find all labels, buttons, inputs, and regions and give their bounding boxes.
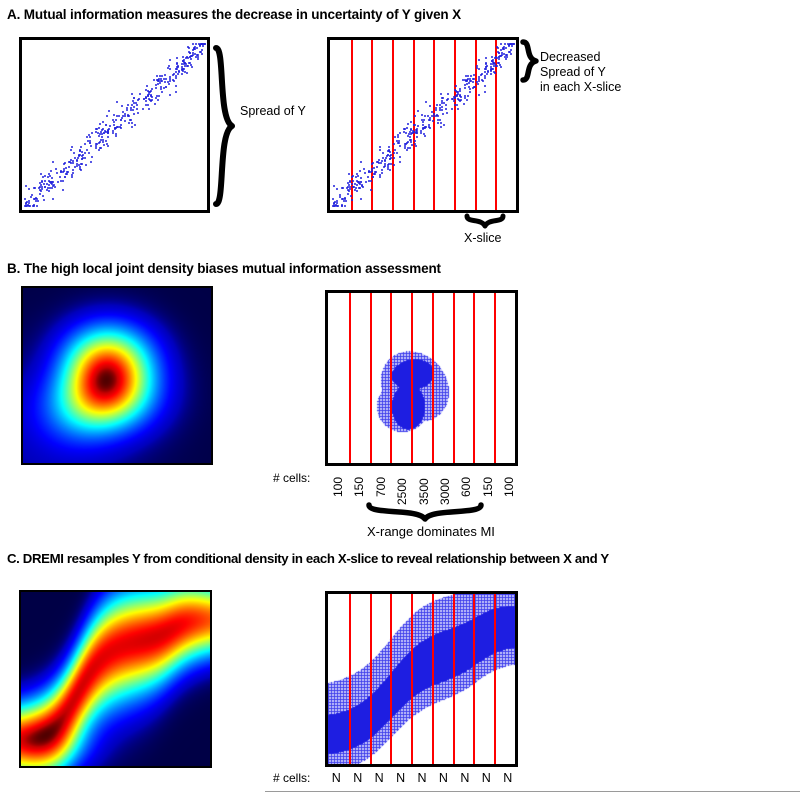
- cells-value: N: [482, 771, 491, 785]
- x-slice-brace: [465, 214, 505, 230]
- x-slice-dividers-b: [328, 293, 515, 463]
- x-range-dominates-label: X-range dominates MI: [367, 524, 495, 539]
- x-range-dominates-brace: [366, 503, 484, 523]
- cells-value: N: [353, 771, 362, 785]
- cells-value: 2500: [395, 478, 409, 505]
- x-slice-dividers-c: [328, 594, 515, 764]
- spread-of-y-brace: [212, 46, 238, 206]
- cells-label-b: # cells:: [273, 471, 310, 485]
- panel-b-title: B. The high local joint density biases m…: [7, 261, 441, 276]
- cells-value: N: [439, 771, 448, 785]
- cells-value: 100: [331, 477, 345, 497]
- panel-c-right-plot: [325, 591, 518, 767]
- panel-a-title: A. Mutual information measures the decre…: [7, 7, 461, 22]
- cells-value: N: [418, 771, 427, 785]
- panel-c-title: C. DREMI resamples Y from conditional de…: [7, 551, 609, 566]
- bottom-divider: [265, 791, 800, 792]
- conditional-density-heatmap: [21, 592, 210, 766]
- panel-a-left-plot: [19, 37, 210, 213]
- spread-of-y-label: Spread of Y: [240, 104, 306, 119]
- scatter-points-unsliced: [22, 40, 207, 210]
- scatter-points-sliced: [330, 40, 516, 210]
- cells-value: 700: [374, 477, 388, 497]
- cells-value: N: [460, 771, 469, 785]
- decreased-spread-label: Decreased Spread of Y in each X-slice: [540, 50, 621, 95]
- panel-c-left-plot: [19, 590, 212, 768]
- panel-a-right-plot: [327, 37, 519, 213]
- cells-value: 3500: [417, 478, 431, 505]
- cells-value: 150: [352, 477, 366, 497]
- cells-value: 150: [481, 477, 495, 497]
- cells-value: N: [503, 771, 512, 785]
- cells-label-c: # cells:: [273, 771, 310, 785]
- panel-b-left-plot: [21, 286, 213, 465]
- x-slice-label: X-slice: [464, 231, 502, 246]
- cells-value: N: [332, 771, 341, 785]
- joint-density-heatmap: [23, 288, 211, 463]
- cells-value: 3000: [438, 478, 452, 505]
- cells-value: 600: [459, 477, 473, 497]
- panel-b-right-plot: [325, 290, 518, 466]
- cells-value: N: [375, 771, 384, 785]
- cells-value: N: [396, 771, 405, 785]
- cells-value: 100: [502, 477, 516, 497]
- decreased-spread-brace: [520, 40, 540, 82]
